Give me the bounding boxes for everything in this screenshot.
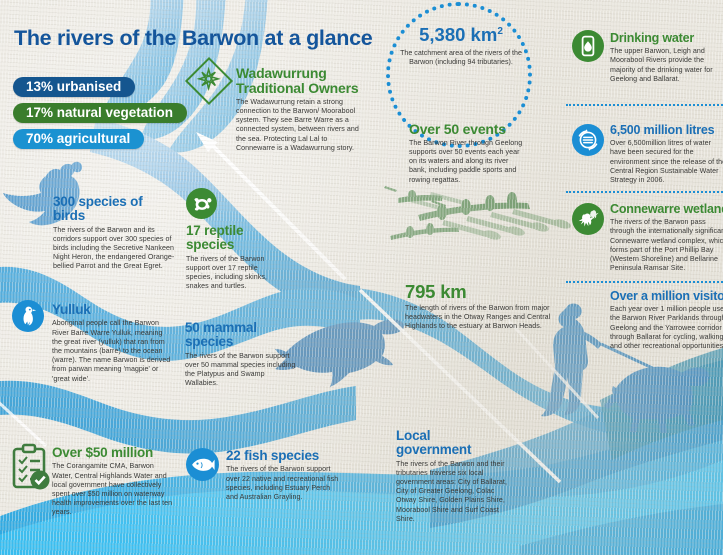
magpie-icon xyxy=(12,300,44,332)
fact-connewarre: Connewarre wetlands The rivers of the Ba… xyxy=(610,203,723,274)
fact-local-government-heading-2: government xyxy=(396,442,471,457)
fact-yulluk-body: Aboriginal people call the Barwon River … xyxy=(52,319,174,384)
fact-mammals-body: The rivers of the Barwon support over 50… xyxy=(185,352,297,389)
fact-reptiles-heading-2: species xyxy=(186,237,234,252)
turtle-icon xyxy=(186,188,217,219)
fact-drinking-water: Drinking water The upper Barwon, Leigh a… xyxy=(610,32,723,84)
fact-birds-body: The rivers of the Barwon and its corrido… xyxy=(53,226,175,272)
content-layer: The rivers of the Barwon at a glance 13%… xyxy=(0,0,723,555)
fish-icon xyxy=(186,448,219,481)
fact-investment-heading: Over $50 million xyxy=(52,446,176,460)
fact-mammals: 50 mammal species The rivers of the Barw… xyxy=(185,321,297,388)
page-title: The rivers of the Barwon at a glance xyxy=(14,26,372,51)
rail-divider-2 xyxy=(566,191,723,193)
rail-divider-1 xyxy=(566,104,723,106)
fact-local-government-heading-1: Local xyxy=(396,428,430,443)
fact-environmental-water-body: Over 6,500million litres of water have b… xyxy=(610,139,723,185)
stat-pill-urbanised: 13% urbanised xyxy=(13,77,135,97)
fact-length-heading: 795 km xyxy=(405,282,558,302)
fact-visitors: Over a million visitors Each year over 1… xyxy=(610,290,723,351)
fact-length: 795 km The length of rivers of the Barwo… xyxy=(405,282,558,331)
fact-reptiles-body: The rivers of the Barwon support over 17… xyxy=(186,255,284,292)
fact-fish-body: The rivers of the Barwon support over 22… xyxy=(226,465,344,502)
fact-local-government: Local government The rivers of the Barwo… xyxy=(396,429,508,524)
fact-local-government-body: The rivers of the Barwon and their tribu… xyxy=(396,460,508,525)
fact-connewarre-heading: Connewarre wetlands xyxy=(610,203,723,216)
fact-length-body: The length of rivers of the Barwon from … xyxy=(405,304,558,332)
fact-yulluk: Yulluk Aboriginal people call the Barwon… xyxy=(52,303,174,384)
wadawurrung-diamond-icon xyxy=(185,57,233,105)
fact-mammals-heading-1: 50 mammal xyxy=(185,320,257,335)
fact-events: Over 50 events The Barwon River through … xyxy=(409,122,525,185)
fact-fish: 22 fish species The rivers of the Barwon… xyxy=(226,449,344,502)
fact-events-body: The Barwon River through Geelong support… xyxy=(409,139,525,185)
fact-environmental-water-heading: 6,500 million litres xyxy=(610,124,723,137)
fact-catchment: 5,380 km2 The catchment area of the rive… xyxy=(391,26,531,67)
infographic-poster: The rivers of the Barwon at a glance 13%… xyxy=(0,0,723,555)
fact-visitors-heading: Over a million visitors xyxy=(610,290,723,303)
fact-catchment-body: The catchment area of the rivers of the … xyxy=(391,49,531,68)
fact-events-heading: Over 50 events xyxy=(409,122,525,137)
stat-pill-agricultural: 70% agricultural xyxy=(13,129,144,149)
water-glass-icon xyxy=(572,30,604,62)
fact-catchment-value: 5,380 km xyxy=(419,24,497,45)
fact-wadawurrung-heading-2: Traditional Owners xyxy=(236,80,358,96)
fact-fish-heading: 22 fish species xyxy=(226,449,344,463)
fact-wadawurrung-body: The Wadawurrung retain a strong connecti… xyxy=(236,98,362,153)
fact-wadawurrung: Wadawurrung Traditional Owners The Wadaw… xyxy=(236,66,362,153)
fact-catchment-exponent: 2 xyxy=(497,26,503,37)
fact-wadawurrung-heading-1: Wadawurrung xyxy=(236,65,327,81)
stat-pill-natural-vegetation: 17% natural vegetation xyxy=(13,103,187,123)
birds-wetland-icon xyxy=(572,203,604,235)
clipboard-check-icon xyxy=(10,443,52,491)
fact-yulluk-heading: Yulluk xyxy=(52,303,174,317)
fact-drinking-water-heading: Drinking water xyxy=(610,32,723,45)
fact-environmental-water: 6,500 million litres Over 6,500million l… xyxy=(610,124,723,185)
fact-reptiles: 17 reptile species The rivers of the Bar… xyxy=(186,224,284,291)
fact-birds: 300 species of birds The rivers of the B… xyxy=(53,195,175,272)
fact-drinking-water-body: The upper Barwon, Leigh and Moorabool Ri… xyxy=(610,47,723,84)
fact-mammals-heading-2: species xyxy=(185,334,233,349)
fact-visitors-body: Each year over 1 million people use the … xyxy=(610,305,723,351)
rail-divider-3 xyxy=(566,281,723,283)
fact-investment-body: The Corangamite CMA, Barwon Water, Centr… xyxy=(52,462,176,517)
fact-reptiles-heading-1: 17 reptile xyxy=(186,223,243,238)
fact-birds-heading: 300 species of birds xyxy=(53,195,175,224)
fact-connewarre-body: The rivers of the Barwon pass through th… xyxy=(610,218,723,273)
water-cycle-icon xyxy=(572,124,604,156)
fact-investment: Over $50 million The Corangamite CMA, Ba… xyxy=(52,446,176,518)
